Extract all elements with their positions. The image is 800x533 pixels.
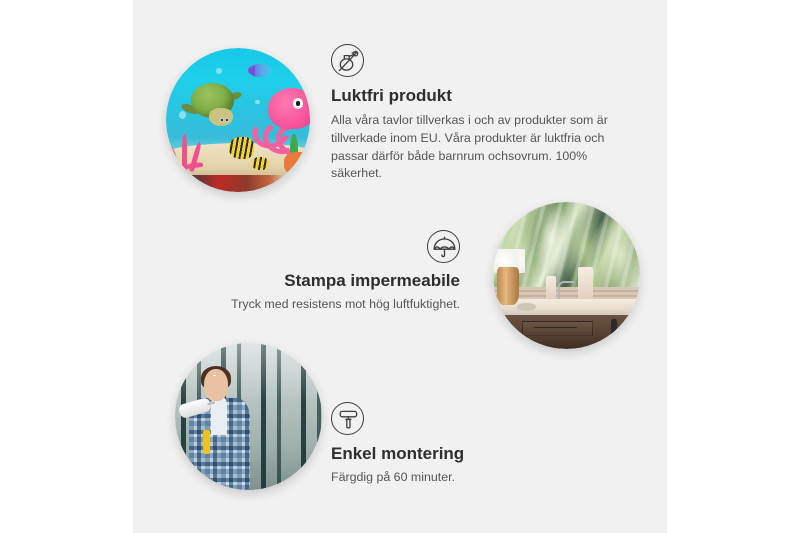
feature-body: Färgdig på 60 minuter. — [331, 469, 621, 487]
sea-turtle-icon — [185, 83, 245, 132]
door-handle-icon — [611, 319, 617, 337]
feature-odourless: Luktfri produkt Alla våra tavlor tillver… — [331, 44, 621, 183]
feature-body: Tryck med resistens mot hög luftfuktighe… — [170, 296, 460, 314]
blue-fish-icon — [248, 64, 271, 77]
bubble-icon — [216, 68, 222, 74]
woman-paint-roller-photo — [175, 343, 322, 490]
wood-cabinet — [505, 315, 640, 349]
starfish-icon — [284, 152, 310, 175]
no-fragrance-glyph — [332, 45, 363, 76]
paint-roller-icon — [331, 402, 364, 435]
feature-body: Alla våra tavlor tillverkas i och av pro… — [331, 112, 615, 182]
feature-waterproof: Stampa impermeabile Tryck med resistens … — [170, 230, 460, 314]
photo-bottom-strip — [186, 175, 310, 192]
feature-title: Luktfri produkt — [331, 86, 621, 106]
paint-roller-glyph — [332, 403, 363, 434]
woman-figure — [184, 369, 263, 490]
soap-dish-icon — [517, 303, 536, 310]
bottle-icon — [578, 267, 593, 302]
octopus-icon — [250, 88, 310, 148]
feature-mounting: Enkel montering Färgdig på 60 minuter. — [331, 402, 621, 487]
product-feature-banner: Luktfri produkt Alla våra tavlor tillver… — [0, 0, 800, 533]
yellow-fish-icon — [252, 157, 268, 170]
underwater-cartoon-photo — [166, 48, 310, 192]
feature-title: Stampa impermeabile — [170, 271, 460, 291]
umbrella-glyph — [428, 231, 459, 262]
no-fragrance-icon — [331, 44, 364, 77]
yellow-fish-icon — [229, 137, 253, 159]
gold-vase-icon — [497, 267, 519, 305]
hand-tool-icon — [203, 430, 210, 454]
bottle-icon — [546, 276, 556, 301]
umbrella-icon — [427, 230, 460, 263]
feature-title: Enkel montering — [331, 444, 621, 464]
bathroom-vanity-photo — [493, 202, 640, 349]
coral-icon — [169, 129, 218, 172]
